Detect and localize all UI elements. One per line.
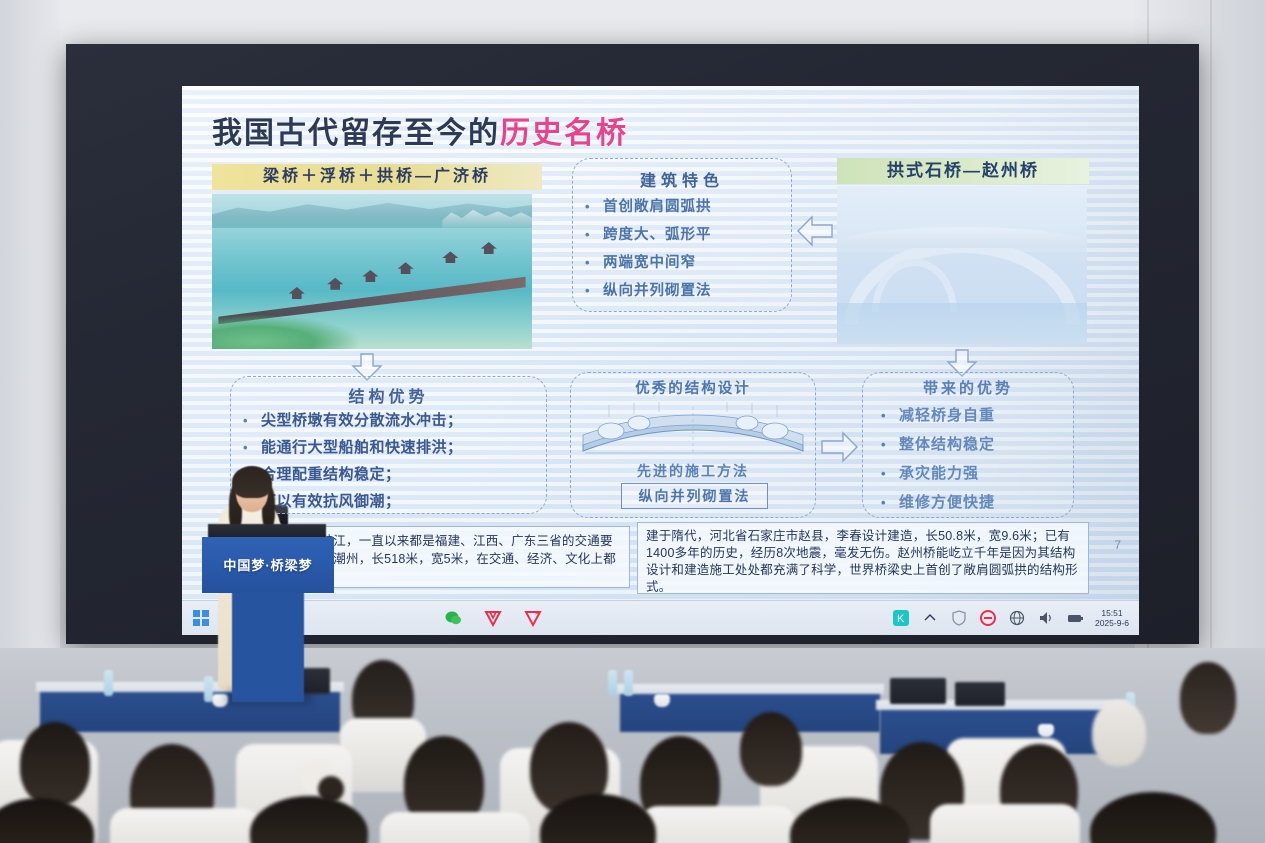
podium-column (232, 592, 304, 702)
taskbar-clock[interactable]: 15:51 2025-9-6 (1095, 608, 1129, 628)
structural-advantages-box: 结构优势 尖型桥墩有效分散流水冲击； 能通行大型船舶和快速排洪； 合理配重结构稳… (230, 376, 547, 514)
audience-head (740, 712, 802, 786)
table-surface (616, 684, 884, 694)
list-item: 首创敞肩圆弧拱 (573, 193, 791, 221)
windows-start-icon[interactable] (192, 609, 210, 627)
audience-chair (380, 812, 530, 843)
zhaozhou-bridge-caption: 建于隋代，河北省石家庄市赵县，李春设计建造，长50.8米，宽9.6米；已有140… (637, 522, 1089, 594)
construction-method-chip: 纵向并列砌置法 (621, 483, 768, 509)
list-item: 合理配重结构稳定； (231, 461, 546, 488)
slide-number: 7 (1114, 538, 1121, 552)
tea-cup (1038, 724, 1054, 737)
windows-taskbar[interactable]: ? K 15:5 (182, 600, 1139, 635)
slide-title-main: 我国古代留存至今的 (212, 117, 500, 150)
water-bottle (608, 670, 617, 696)
features-box-title: 建筑特色 (573, 167, 791, 191)
audience-head (20, 722, 90, 806)
svg-text:?: ? (535, 613, 539, 620)
water-bottle (624, 670, 633, 696)
list-item: 能通行大型船舶和快速排洪； (231, 434, 546, 461)
laptop (955, 682, 1005, 706)
podium-top (208, 524, 326, 538)
attendee-head (1180, 662, 1236, 734)
audience-area (0, 648, 1265, 843)
advantages-list: 尖型桥墩有效分散流水冲击； 能通行大型船舶和快速排洪； 合理配重结构稳定； 可以… (231, 407, 546, 515)
audience-head (1090, 792, 1216, 843)
resulting-benefits-box: 带来的优势 减轻桥身自重 整体结构稳定 承灾能力强 维修方便快捷 (862, 372, 1074, 518)
advantages-box-title: 结构优势 (231, 383, 546, 407)
slide-title: 我国古代留存至今的历史名桥 (212, 108, 628, 152)
construction-method-label: 先进的施工方法 (571, 461, 815, 481)
list-item: 尖型桥墩有效分散流水冲击； (231, 407, 546, 434)
tea-cup (654, 694, 670, 707)
shield-icon[interactable] (950, 609, 968, 627)
clock-time: 15:51 (1101, 608, 1122, 618)
right-bridge-ribbon: 拱式石桥—赵州桥 (837, 158, 1089, 184)
excellent-design-box: 优秀的结构设计 (570, 372, 816, 518)
screenshot-root: 我国古代留存至今的历史名桥 梁桥＋浮桥＋拱桥—广济桥 拱式石桥—赵州桥 (0, 0, 1265, 843)
guangji-bridge-photo (212, 194, 532, 349)
list-item: 可以有效抗风御潮； (231, 488, 546, 515)
list-item: 纵向并列砌置法 (573, 277, 791, 305)
audience-chair (640, 806, 796, 843)
list-item: 维修方便快捷 (863, 488, 1073, 517)
wall-seam (1210, 0, 1212, 660)
wall-column-left (0, 0, 60, 655)
water-bottle (104, 670, 113, 696)
list-item: 跨度大、弧形平 (573, 221, 791, 249)
design-box-title: 优秀的结构设计 (571, 377, 815, 398)
architectural-features-box: 建筑特色 首创敞肩圆弧拱 跨度大、弧形平 两端宽中间窄 纵向并列砌置法 (572, 158, 792, 312)
attendee-head (1092, 700, 1146, 766)
clock-date: 2025-9-6 (1095, 618, 1129, 628)
audience-chair (110, 808, 260, 843)
list-item: 承灾能力强 (863, 459, 1073, 488)
photo-foliage (212, 315, 359, 349)
list-item: 减轻桥身自重 (863, 401, 1073, 430)
chevron-up-icon[interactable] (921, 609, 939, 627)
presentation-slide: 我国古代留存至今的历史名桥 梁桥＋浮桥＋拱桥—广济桥 拱式石桥—赵州桥 (182, 86, 1139, 600)
svg-text:K: K (897, 613, 905, 625)
arrow-right-icon (819, 431, 859, 463)
benefits-list: 减轻桥身自重 整体结构稳定 承灾能力强 维修方便快捷 (863, 401, 1073, 517)
slide-title-highlight: 历史名桥 (500, 117, 628, 150)
list-item: 整体结构稳定 (863, 430, 1073, 459)
features-list: 首创敞肩圆弧拱 跨度大、弧形平 两端宽中间窄 纵向并列砌置法 (573, 193, 791, 305)
list-item: 两端宽中间窄 (573, 249, 791, 277)
arrow-left-icon (796, 214, 834, 248)
network-icon[interactable] (1008, 609, 1026, 627)
wechat-icon[interactable] (444, 609, 462, 627)
volume-icon[interactable] (1037, 609, 1055, 627)
audience-chair (930, 804, 1080, 843)
bridge-elevation-diagram (579, 401, 807, 457)
kugou-icon[interactable]: K (892, 609, 910, 627)
podium-banner-text: 中国梦·桥梁梦 (202, 550, 334, 578)
browser-icon[interactable] (979, 609, 997, 627)
photo-washout-overlay (837, 186, 1087, 344)
projected-screen: 我国古代留存至今的历史名桥 梁桥＋浮桥＋拱桥—广济桥 拱式石桥—赵州桥 (182, 86, 1139, 600)
battery-icon[interactable] (1066, 609, 1084, 627)
presenter-hair (232, 466, 272, 498)
benefits-box-title: 带来的优势 (863, 377, 1073, 398)
laptop (890, 678, 946, 704)
wps-presentation-icon[interactable]: ? (524, 609, 542, 627)
wps-writer-icon[interactable] (484, 609, 502, 627)
zhaozhou-bridge-photo (837, 186, 1087, 344)
left-bridge-ribbon: 梁桥＋浮桥＋拱桥—广济桥 (212, 164, 542, 190)
